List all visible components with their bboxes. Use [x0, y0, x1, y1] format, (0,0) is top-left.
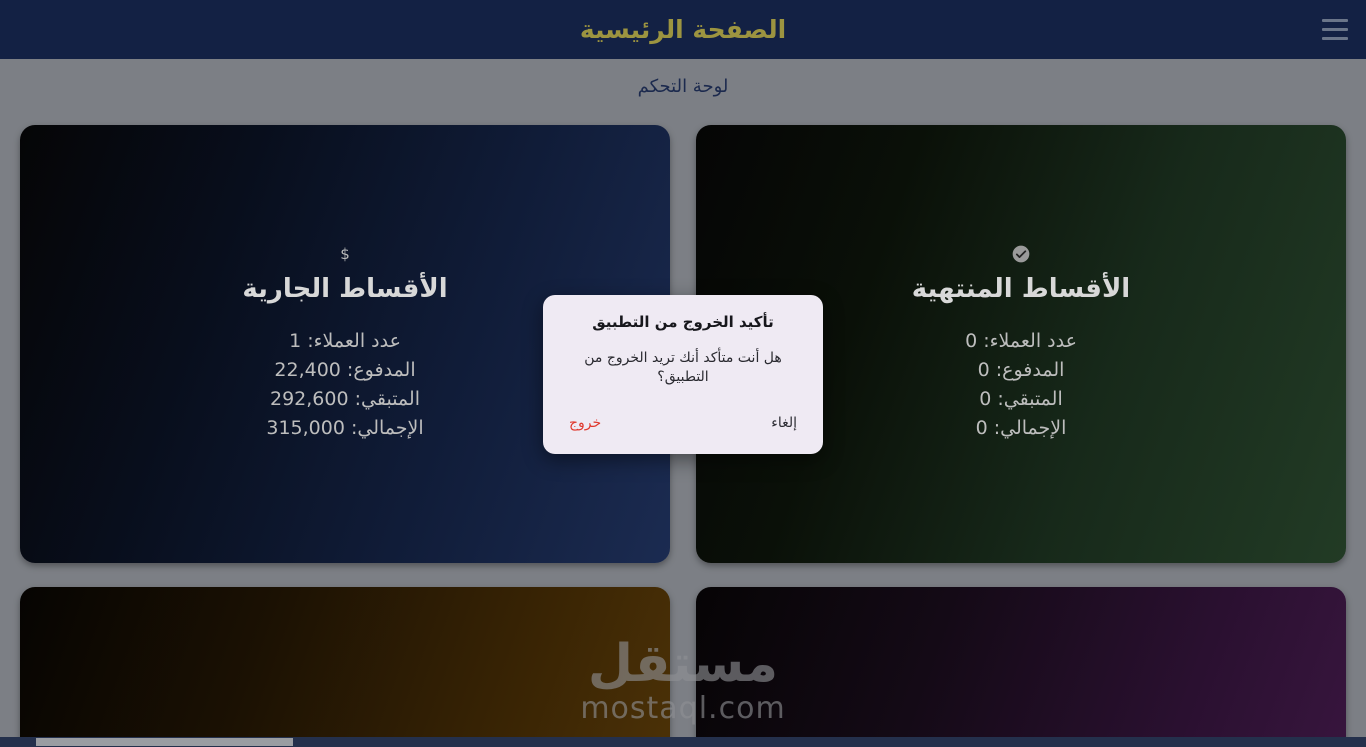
hamburger-menu-icon[interactable] [1322, 19, 1348, 40]
check-circle-icon [696, 244, 1346, 264]
dollar-sign-icon: $ [20, 244, 670, 264]
app-bar: الصفحة الرئيسية [0, 0, 1366, 59]
dialog-title: تأكيد الخروج من التطبيق [565, 313, 801, 333]
hamburger-line [1322, 28, 1348, 31]
page-title: لوحة التحكم [0, 59, 1366, 98]
app-bar-title: الصفحة الرئيسية [580, 17, 786, 42]
left-edge-gutter [0, 118, 8, 747]
card-pending-installments[interactable] [20, 587, 670, 747]
horizontal-scrollbar-track[interactable] [0, 737, 1366, 747]
dialog-message: هل أنت متأكد أنك تريد الخروج من التطبيق؟ [565, 349, 801, 388]
card-notifications-off[interactable] [696, 587, 1346, 747]
svg-text:$: $ [340, 245, 350, 263]
exit-button[interactable]: خروج [565, 413, 605, 433]
horizontal-scrollbar-thumb[interactable] [36, 738, 293, 746]
dialog-actions: إلغاء خروج [565, 413, 801, 433]
hamburger-line [1322, 37, 1348, 40]
exit-confirmation-dialog: تأكيد الخروج من التطبيق هل أنت متأكد أنك… [543, 295, 823, 454]
hamburger-line [1322, 19, 1348, 22]
cancel-button[interactable]: إلغاء [767, 413, 801, 433]
